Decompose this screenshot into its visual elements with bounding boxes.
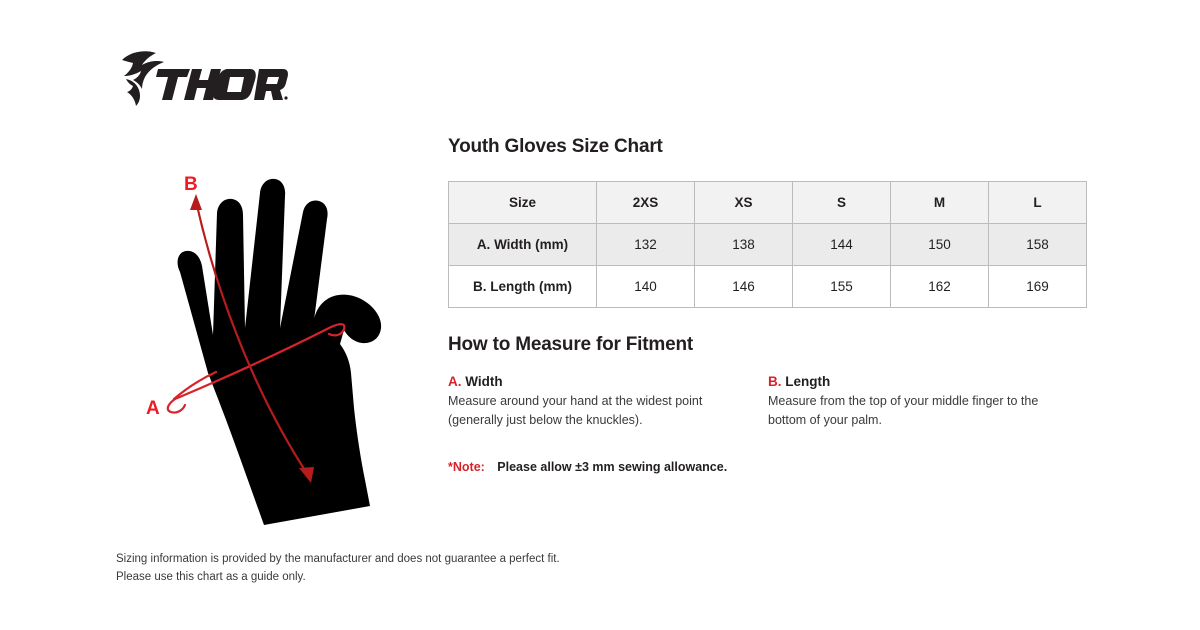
measure-title: How to Measure for Fitment	[448, 334, 1088, 357]
cell-length-l: 169	[989, 265, 1087, 307]
cell-width-2xs: 132	[597, 223, 695, 265]
cell-length-m: 162	[891, 265, 989, 307]
table-header-2xs: 2XS	[597, 181, 695, 223]
thor-helmet-icon	[116, 47, 288, 109]
table-header-l: L	[989, 181, 1087, 223]
measure-marker-a: A.	[448, 374, 462, 389]
table-row: B. Length (mm) 140 146 155 162 169	[449, 265, 1087, 307]
size-chart-table: Size 2XS XS S M L A. Width (mm) 132 138 …	[448, 181, 1087, 308]
measure-name-length: Length	[785, 374, 830, 389]
note-label: *Note:	[448, 460, 485, 474]
row-label-width: A. Width (mm)	[449, 223, 597, 265]
width-measure-line	[174, 372, 216, 399]
table-header-s: S	[793, 181, 891, 223]
content-column: Youth Gloves Size Chart Size 2XS XS S M …	[448, 136, 1088, 474]
width-arrow-head-left	[168, 399, 185, 413]
table-row: A. Width (mm) 132 138 144 150 158	[449, 223, 1087, 265]
measure-item-width: A. Width Measure around your hand at the…	[448, 374, 768, 429]
table-header-row: Size 2XS XS S M L	[449, 181, 1087, 223]
cell-length-s: 155	[793, 265, 891, 307]
glove-diagram: B A	[118, 168, 418, 538]
length-arrow-head-top	[190, 194, 202, 210]
measure-heading-width: A. Width	[448, 374, 746, 391]
measure-description-length: Measure from the top of your middle fing…	[768, 392, 1066, 428]
disclaimer-line-2: Please use this chart as a guide only.	[116, 569, 560, 587]
cell-width-s: 144	[793, 223, 891, 265]
table-header-size: Size	[449, 181, 597, 223]
measure-item-length: B. Length Measure from the top of your m…	[768, 374, 1088, 429]
brand-logo	[116, 47, 288, 109]
measure-grid: A. Width Measure around your hand at the…	[448, 374, 1088, 429]
table-header-xs: XS	[695, 181, 793, 223]
measure-name-width: Width	[465, 374, 502, 389]
cell-width-m: 150	[891, 223, 989, 265]
cell-length-2xs: 140	[597, 265, 695, 307]
cell-width-l: 158	[989, 223, 1087, 265]
width-marker-label: A	[146, 398, 160, 419]
measure-description-width: Measure around your hand at the widest p…	[448, 392, 746, 428]
note-text: Please allow ±3 mm sewing allowance.	[497, 460, 727, 474]
measure-heading-length: B. Length	[768, 374, 1066, 391]
table-header-m: M	[891, 181, 989, 223]
page-title: Youth Gloves Size Chart	[448, 136, 1088, 159]
footer-disclaimer: Sizing information is provided by the ma…	[116, 551, 560, 587]
length-marker-label: B	[184, 174, 198, 195]
measure-marker-b: B.	[768, 374, 782, 389]
disclaimer-line-1: Sizing information is provided by the ma…	[116, 551, 560, 569]
row-label-length: B. Length (mm)	[449, 265, 597, 307]
how-to-measure-section: How to Measure for Fitment A. Width Meas…	[448, 334, 1088, 474]
cell-length-xs: 146	[695, 265, 793, 307]
sewing-allowance-note: *Note: Please allow ±3 mm sewing allowan…	[448, 460, 1088, 474]
cell-width-xs: 138	[695, 223, 793, 265]
